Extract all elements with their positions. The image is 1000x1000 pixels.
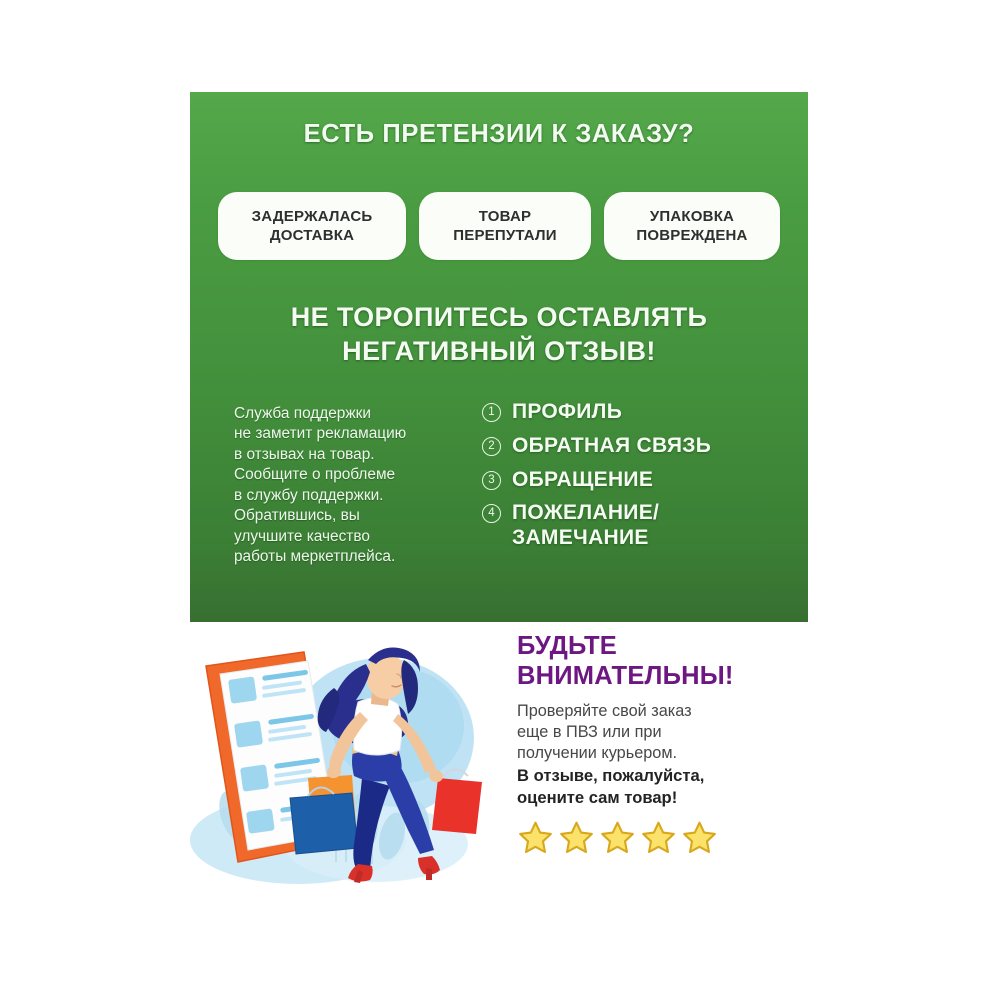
step-number-circle-icon: 3 xyxy=(482,471,501,490)
page-title: ЕСТЬ ПРЕТЕНЗИИ К ЗАКАЗУ? xyxy=(190,120,808,149)
star-icon[interactable] xyxy=(517,820,554,856)
bottom-section: БУДЬТЕ ВНИМАТЕЛЬНЫ! Проверяйте свой зака… xyxy=(0,630,1000,910)
step-number-circle-icon: 4 xyxy=(482,504,501,523)
claim-pill-label: УПАКОВКА ПОВРЕЖДЕНА xyxy=(636,207,747,245)
star-icon[interactable] xyxy=(681,820,718,856)
claim-pill-delayed-delivery[interactable]: ЗАДЕРЖАЛАСЬ ДОСТАВКА xyxy=(218,192,406,260)
step-label: ОБРАТНАЯ СВЯЗЬ xyxy=(512,434,711,459)
list-item[interactable]: 2 ОБРАТНАЯ СВЯЗЬ xyxy=(482,434,802,459)
attention-body-text: Проверяйте свой заказ еще в ПВЗ или при … xyxy=(517,701,817,765)
star-icon[interactable] xyxy=(599,820,636,856)
rating-stars[interactable] xyxy=(517,820,817,856)
claim-type-pill-row: ЗАДЕРЖАЛАСЬ ДОСТАВКА ТОВАР ПЕРЕПУТАЛИ УП… xyxy=(218,192,780,260)
panel-lower-columns: Служба поддержки не заметит рекламацию в… xyxy=(190,404,808,604)
attention-body-emphasis: В отзыве, пожалуйста, оцените сам товар! xyxy=(517,765,817,808)
step-label: ОБРАЩЕНИЕ xyxy=(512,468,653,493)
list-item[interactable]: 3 ОБРАЩЕНИЕ xyxy=(482,468,802,493)
star-icon[interactable] xyxy=(558,820,595,856)
support-service-note: Служба поддержки не заметит рекламацию в… xyxy=(234,404,466,568)
poster-canvas: ЕСТЬ ПРЕТЕНЗИИ К ЗАКАЗУ? ЗАДЕРЖАЛАСЬ ДОС… xyxy=(0,0,1000,1000)
step-label: ПОЖЕЛАНИЕ/ ЗАМЕЧАНИЕ xyxy=(512,501,659,551)
steps-list: 1 ПРОФИЛЬ 2 ОБРАТНАЯ СВЯЗЬ 3 ОБРАЩЕНИЕ 4… xyxy=(482,400,802,560)
claim-pill-label: ТОВАР ПЕРЕПУТАЛИ xyxy=(453,207,556,245)
claim-pill-damaged-packaging[interactable]: УПАКОВКА ПОВРЕЖДЕНА xyxy=(604,192,780,260)
claim-pill-label: ЗАДЕРЖАЛАСЬ ДОСТАВКА xyxy=(252,207,373,245)
woman-shopping-with-phone-illustration xyxy=(186,630,516,892)
step-number-circle-icon: 1 xyxy=(482,403,501,422)
attention-heading: БУДЬТЕ ВНИМАТЕЛЬНЫ! xyxy=(517,632,817,692)
claims-green-panel: ЕСТЬ ПРЕТЕНЗИИ К ЗАКАЗУ? ЗАДЕРЖАЛАСЬ ДОС… xyxy=(190,92,808,622)
list-item[interactable]: 1 ПРОФИЛЬ xyxy=(482,400,802,425)
step-label: ПРОФИЛЬ xyxy=(512,400,622,425)
step-number-circle-icon: 2 xyxy=(482,437,501,456)
star-icon[interactable] xyxy=(640,820,677,856)
headline-dont-rush-negative-review: НЕ ТОРОПИТЕСЬ ОСТАВЛЯТЬ НЕГАТИВНЫЙ ОТЗЫВ… xyxy=(190,300,808,368)
attention-text-block: БУДЬТЕ ВНИМАТЕЛЬНЫ! Проверяйте свой зака… xyxy=(517,632,817,856)
list-item[interactable]: 4 ПОЖЕЛАНИЕ/ ЗАМЕЧАНИЕ xyxy=(482,501,802,551)
claim-pill-wrong-item[interactable]: ТОВАР ПЕРЕПУТАЛИ xyxy=(419,192,591,260)
